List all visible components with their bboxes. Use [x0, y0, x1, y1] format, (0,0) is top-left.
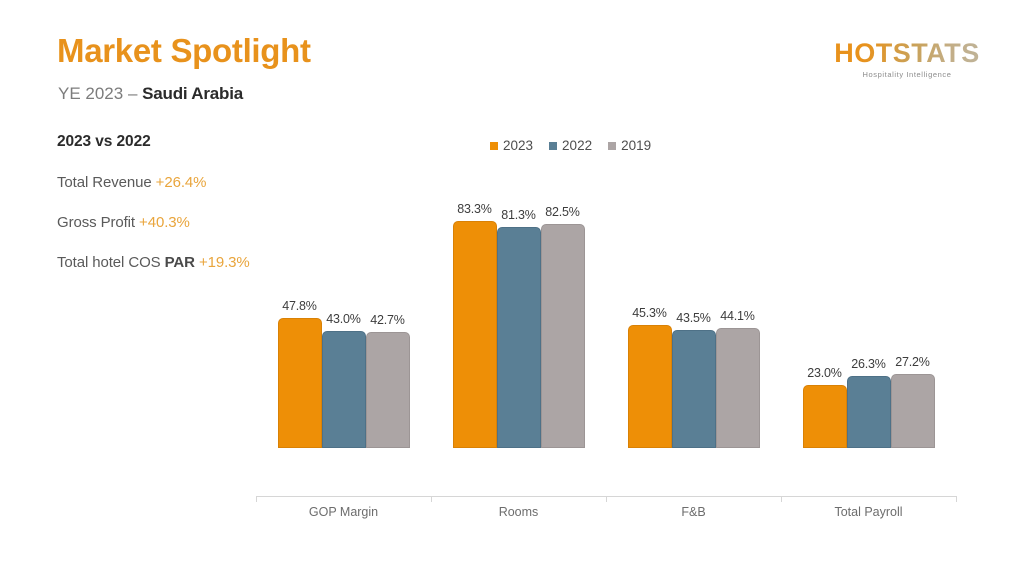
axis-tick: [256, 496, 257, 502]
metric-label: Gross Profit: [57, 214, 135, 231]
bar-2022[interactable]: [497, 227, 541, 448]
metric-label: Total hotel COS: [57, 254, 165, 271]
bar-group-bars: 47.8%43.0%42.7%: [278, 178, 410, 448]
metric-value: +40.3%: [135, 214, 190, 231]
bar-slot: 26.3%: [847, 178, 891, 448]
bar-slot: 23.0%: [803, 178, 847, 448]
legend-label: 2023: [503, 138, 533, 153]
legend-swatch-icon: [490, 142, 498, 150]
bar-value-label: 42.7%: [370, 313, 404, 327]
bar-value-label: 81.3%: [501, 208, 535, 222]
bar-groups: 47.8%43.0%42.7%83.3%81.3%82.5%45.3%43.5%…: [256, 178, 956, 448]
bar-2019[interactable]: [541, 224, 585, 448]
axis-tick: [431, 496, 432, 502]
bar-group-f-b: 45.3%43.5%44.1%: [606, 178, 781, 448]
category-label: Total Payroll: [781, 505, 956, 519]
legend-item-2022[interactable]: 2022: [549, 138, 592, 153]
category-label: GOP Margin: [256, 505, 431, 519]
bar-2023[interactable]: [453, 221, 497, 448]
metric-value: +19.3%: [195, 254, 250, 271]
bar-value-label: 82.5%: [545, 205, 579, 219]
category-label: F&B: [606, 505, 781, 519]
chart-legend: 202320222019: [490, 138, 651, 153]
legend-item-2019[interactable]: 2019: [608, 138, 651, 153]
legend-label: 2019: [621, 138, 651, 153]
bar-group-total-payroll: 23.0%26.3%27.2%: [781, 178, 956, 448]
metric-label-emphasis: PAR: [165, 254, 195, 271]
bar-value-label: 43.0%: [326, 312, 360, 326]
bar-slot: 81.3%: [497, 178, 541, 448]
legend-item-2023[interactable]: 2023: [490, 138, 533, 153]
page-subtitle: YE 2023 – Saudi Arabia: [58, 84, 243, 104]
category-label: Rooms: [431, 505, 606, 519]
bar-group-rooms: 83.3%81.3%82.5%: [431, 178, 606, 448]
bar-slot: 27.2%: [891, 178, 935, 448]
bar-2023[interactable]: [803, 385, 847, 448]
metric-label: Total Revenue: [57, 174, 152, 191]
bar-2019[interactable]: [366, 332, 410, 448]
subtitle-period: YE 2023 –: [58, 84, 142, 103]
bar-value-label: 45.3%: [632, 306, 666, 320]
bar-group-bars: 23.0%26.3%27.2%: [803, 178, 935, 448]
bar-value-label: 44.1%: [720, 309, 754, 323]
bar-2023[interactable]: [628, 325, 672, 448]
page-title: Market Spotlight: [57, 32, 311, 70]
axis-tick: [956, 496, 957, 502]
category-axis-labels: GOP MarginRoomsF&BTotal Payroll: [256, 505, 956, 519]
bar-value-label: 23.0%: [807, 366, 841, 380]
bar-value-label: 26.3%: [851, 357, 885, 371]
bar-group-gop-margin: 47.8%43.0%42.7%: [256, 178, 431, 448]
metric-value: +26.4%: [152, 174, 207, 191]
bar-value-label: 47.8%: [282, 299, 316, 313]
bar-value-label: 27.2%: [895, 355, 929, 369]
grouped-bar-chart: 202320222019 47.8%43.0%42.7%83.3%81.3%82…: [256, 130, 956, 480]
chart-plot-area: 47.8%43.0%42.7%83.3%81.3%82.5%45.3%43.5%…: [256, 178, 956, 448]
subtitle-region: Saudi Arabia: [142, 84, 243, 103]
bar-slot: 43.0%: [322, 178, 366, 448]
legend-swatch-icon: [549, 142, 557, 150]
bar-slot: 43.5%: [672, 178, 716, 448]
axis-tick: [606, 496, 607, 502]
legend-swatch-icon: [608, 142, 616, 150]
bar-value-label: 83.3%: [457, 202, 491, 216]
legend-label: 2022: [562, 138, 592, 153]
slide-header: Market Spotlight YE 2023 – Saudi Arabia …: [0, 0, 1024, 120]
axis-tick: [781, 496, 782, 502]
bar-slot: 82.5%: [541, 178, 585, 448]
bar-slot: 83.3%: [453, 178, 497, 448]
bar-slot: 47.8%: [278, 178, 322, 448]
bar-slot: 44.1%: [716, 178, 760, 448]
bar-slot: 45.3%: [628, 178, 672, 448]
brand-logo: HOTSTATS Hospitality Intelligence: [832, 40, 982, 79]
bar-group-bars: 83.3%81.3%82.5%: [453, 178, 585, 448]
bar-2019[interactable]: [716, 328, 760, 448]
bar-slot: 42.7%: [366, 178, 410, 448]
bar-2022[interactable]: [672, 330, 716, 448]
brand-tagline: Hospitality Intelligence: [832, 70, 982, 79]
bar-2022[interactable]: [847, 376, 891, 448]
bar-2022[interactable]: [322, 331, 366, 448]
bar-2019[interactable]: [891, 374, 935, 448]
brand-wordmark: HOTSTATS: [832, 40, 982, 67]
bar-value-label: 43.5%: [676, 311, 710, 325]
bar-2023[interactable]: [278, 318, 322, 448]
bar-group-bars: 45.3%43.5%44.1%: [628, 178, 760, 448]
